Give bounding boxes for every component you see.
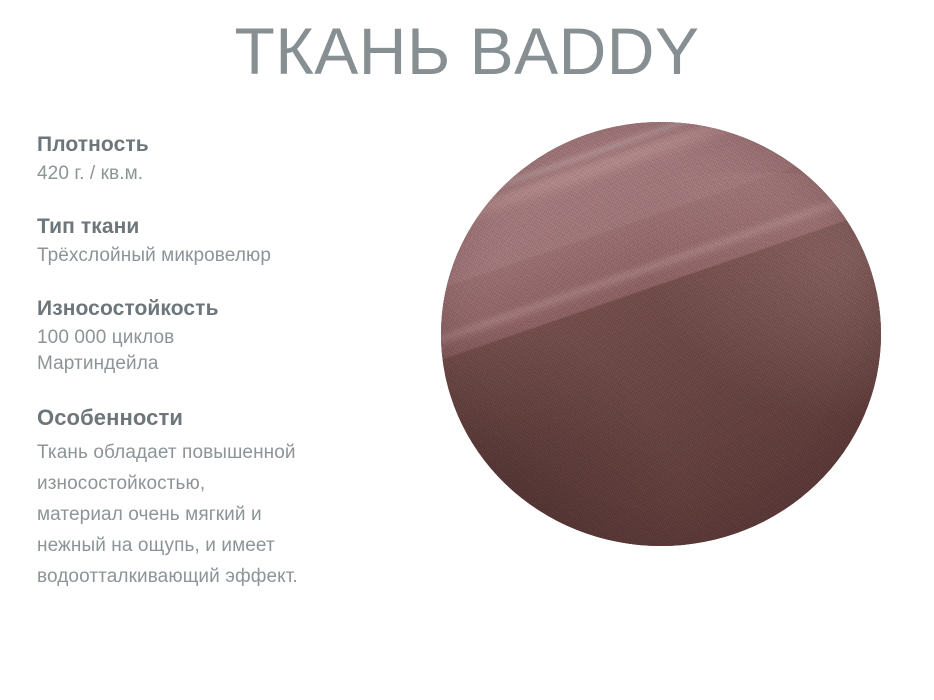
fabric-swatch-circle-image [441,122,881,546]
fabric-spec-slide: ТКАНЬ BADDY Плотность 420 г. / кв.м. Тип… [0,0,934,700]
spec-item-features: Особенности Ткань обладает повышенной из… [37,403,397,592]
page-title: ТКАНЬ BADDY [0,8,934,94]
fabric-photo [441,122,881,546]
spec-label-durability: Износостойкость [37,295,397,322]
spec-value-features: Ткань обладает повышенной износостойкост… [37,437,397,592]
spec-list: Плотность 420 г. / кв.м. Тип ткани Трёхс… [37,131,397,592]
spec-item-durability: Износостойкость 100 000 циклов Мартиндей… [37,295,397,377]
spec-label-features: Особенности [37,403,397,432]
spec-value-density: 420 г. / кв.м. [37,161,397,187]
spec-value-durability: 100 000 циклов Мартиндейла [37,325,397,377]
spec-label-fabric-type: Тип ткани [37,213,397,240]
spec-label-density: Плотность [37,131,397,158]
fabric-vignette [441,122,881,546]
spec-item-fabric-type: Тип ткани Трёхслойный микровелюр [37,213,397,269]
spec-item-density: Плотность 420 г. / кв.м. [37,131,397,187]
spec-value-fabric-type: Трёхслойный микровелюр [37,243,397,269]
